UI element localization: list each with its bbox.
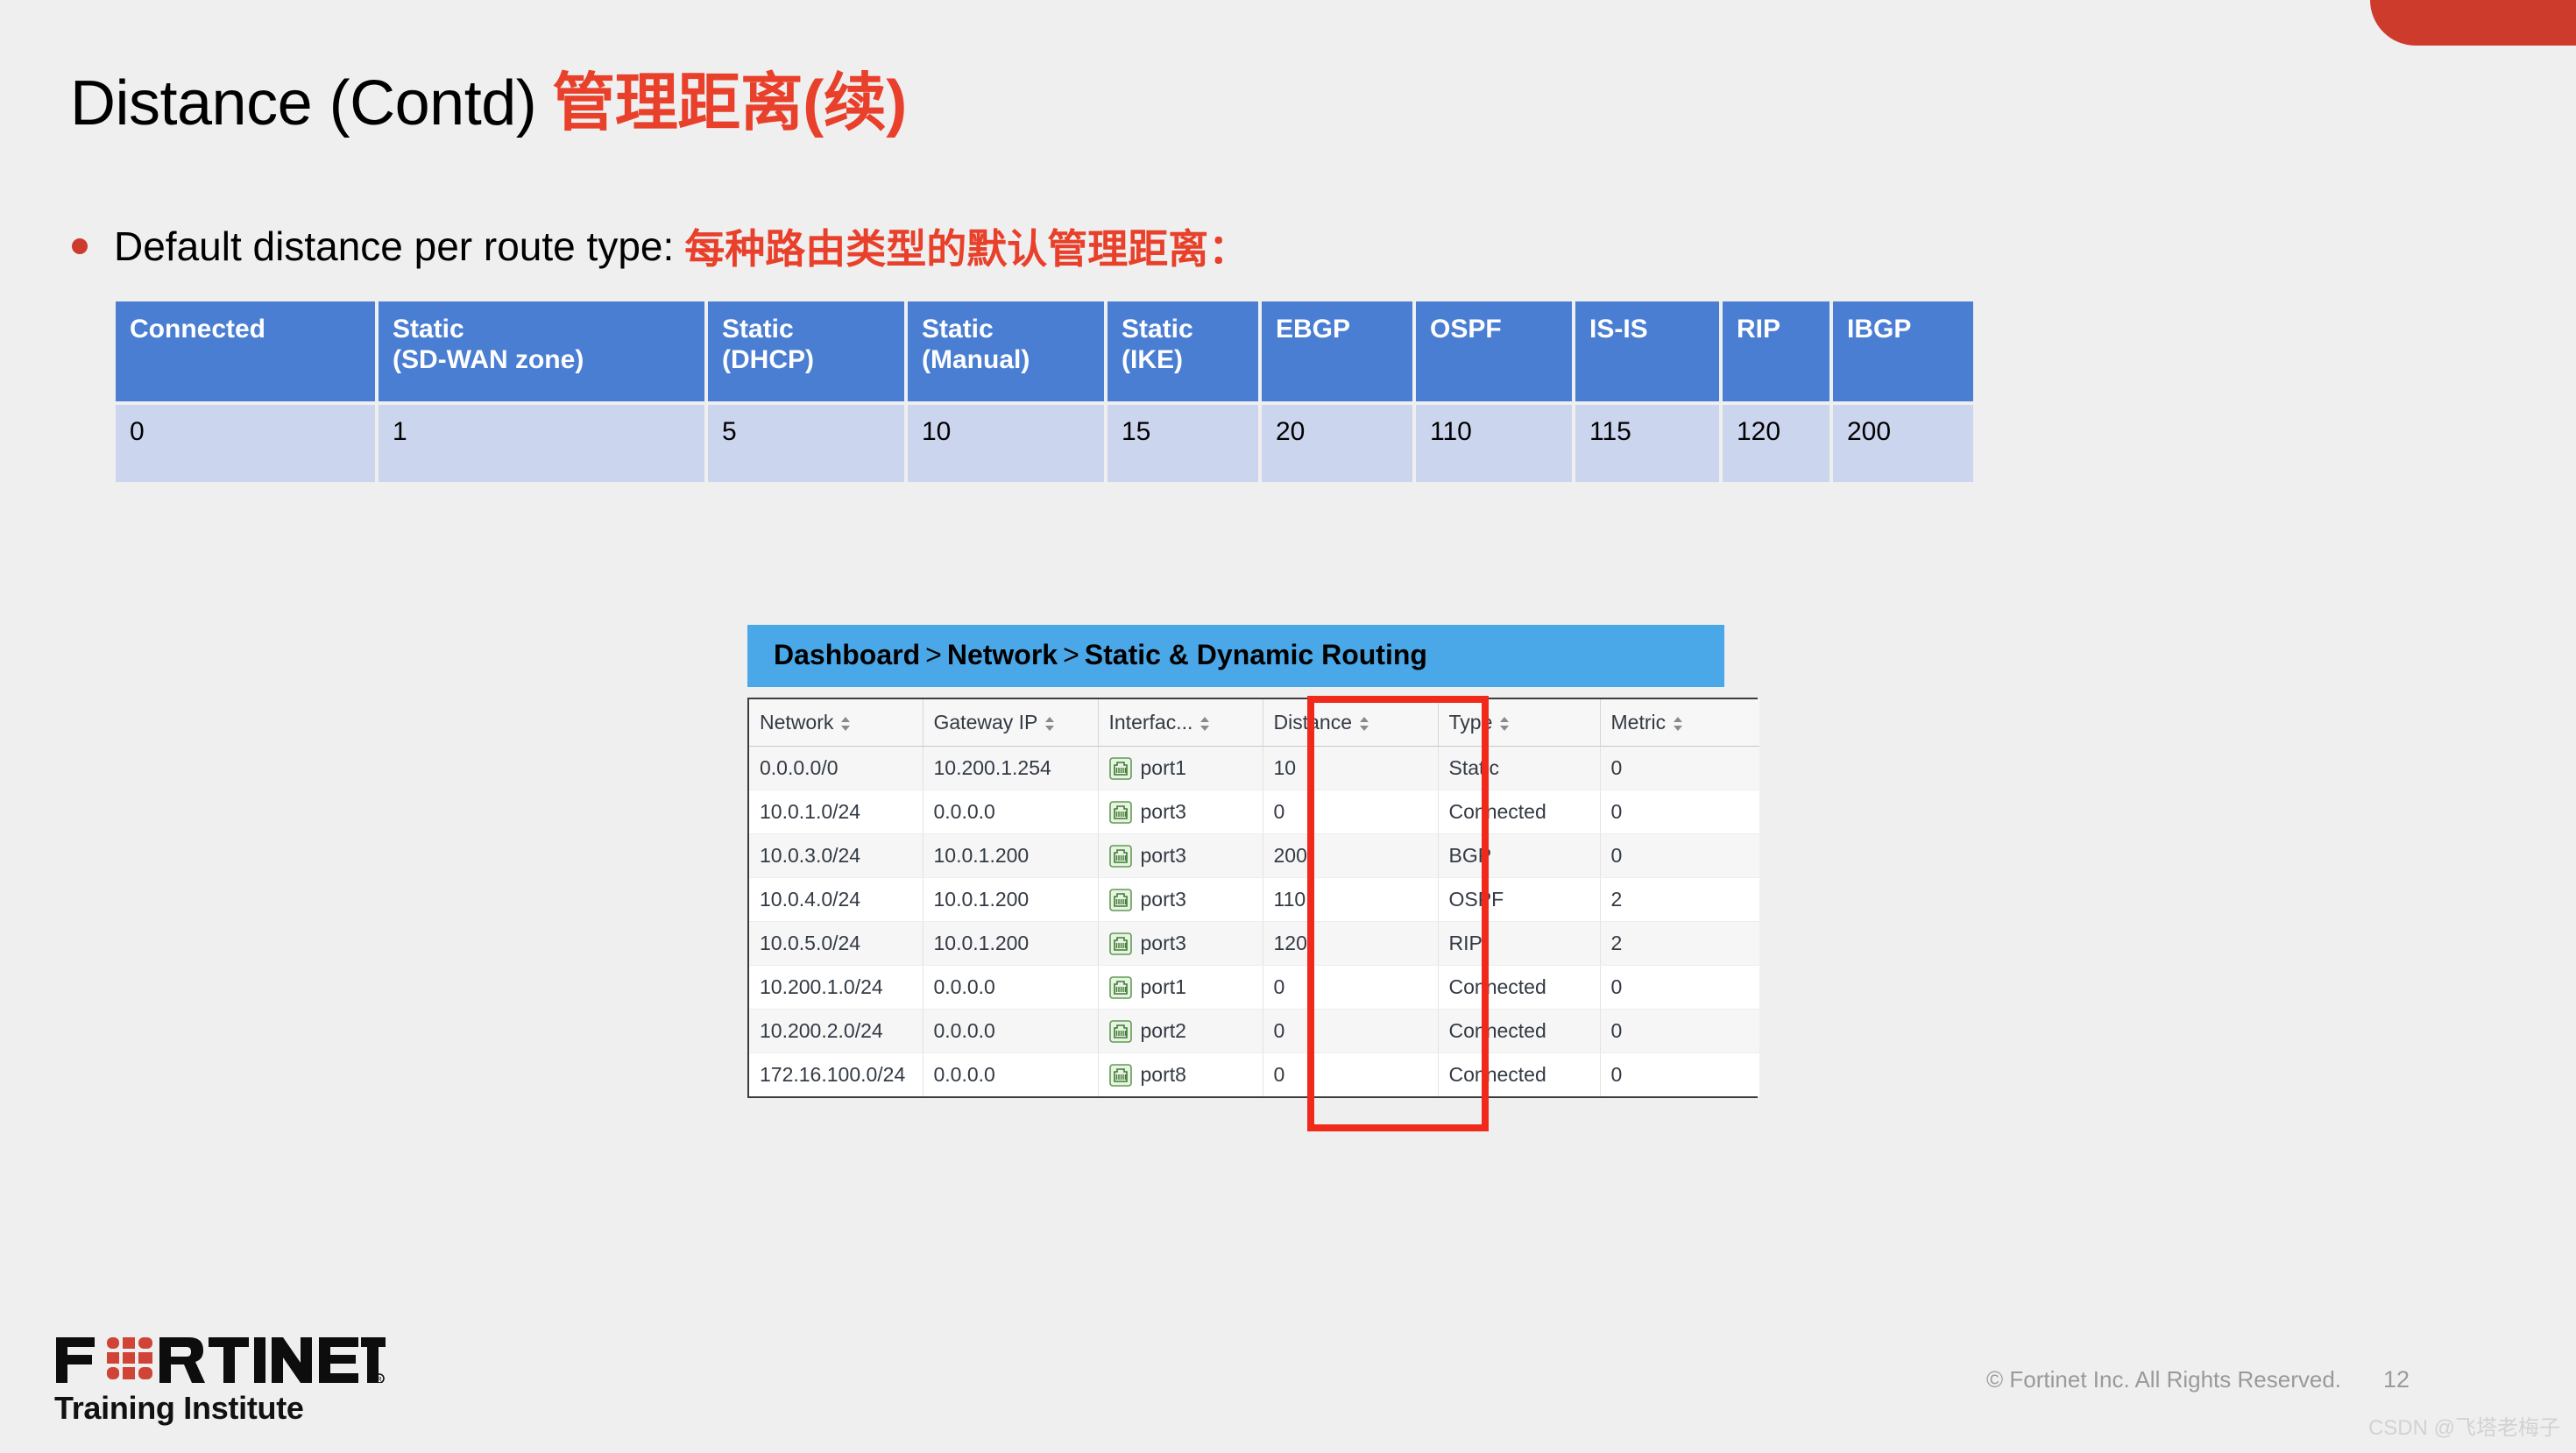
distance-header-ospf: OSPF (1416, 301, 1572, 401)
bullet-text-english: Default distance per route type: (114, 223, 674, 270)
cell-metric: 0 (1600, 1010, 1759, 1053)
distance-value-ebgp: 20 (1262, 405, 1412, 482)
ethernet-port-icon (1109, 889, 1132, 911)
table-row[interactable]: 10.0.5.0/2410.0.1.200port3120RIP2 (749, 922, 1759, 966)
header-line-1: Static (393, 315, 464, 344)
cell-type: Connected (1438, 1053, 1600, 1097)
cell-metric: 0 (1600, 790, 1759, 834)
column-header-interface[interactable]: Interfac... (1098, 699, 1263, 747)
sort-arrows-icon[interactable] (1044, 715, 1056, 733)
cell-interface: port2 (1098, 1010, 1263, 1053)
cell-network: 10.0.5.0/24 (749, 922, 923, 966)
cell-interface: port3 (1098, 790, 1263, 834)
cell-network: 0.0.0.0/0 (749, 747, 923, 790)
distance-value-ibgp: 200 (1833, 405, 1973, 482)
ethernet-port-icon (1109, 1064, 1132, 1087)
sort-arrows-icon[interactable] (839, 715, 852, 733)
distance-header-static-dhcp: Static (DHCP) (708, 301, 904, 401)
cell-interface: port1 (1098, 966, 1263, 1010)
column-header-network-label: Network (760, 711, 833, 734)
ethernet-port-icon (1109, 932, 1132, 955)
header-line-1: Static (722, 315, 794, 344)
copyright-notice: © Fortinet Inc. All Rights Reserved. (1986, 1366, 2341, 1393)
distance-header-ibgp: IBGP (1833, 301, 1973, 401)
ethernet-port-icon (1109, 1020, 1132, 1043)
cell-metric: 0 (1600, 834, 1759, 878)
fortinet-logo-subtitle: Training Institute (54, 1390, 386, 1427)
red-corner-accent (2370, 0, 2576, 46)
interface-name: port1 (1141, 975, 1186, 999)
table-row[interactable]: 10.0.3.0/2410.0.1.200port3200BGP0 (749, 834, 1759, 878)
cell-distance: 200 (1263, 834, 1438, 878)
sort-arrows-icon[interactable] (1358, 715, 1370, 733)
cell-network: 10.0.4.0/24 (749, 878, 923, 922)
cell-metric: 0 (1600, 747, 1759, 790)
cell-network: 10.200.1.0/24 (749, 966, 923, 1010)
cell-distance: 10 (1263, 747, 1438, 790)
routing-table-header-row: Network Gateway IP Interfac... Distance … (749, 699, 1759, 747)
distance-table-value-row: 0 1 5 10 15 20 110 115 120 200 (116, 405, 1973, 482)
distance-header-connected: Connected (116, 301, 375, 401)
table-row[interactable]: 172.16.100.0/240.0.0.0port80Connected0 (749, 1053, 1759, 1097)
breadcrumb-item-dashboard[interactable]: Dashboard (774, 639, 920, 670)
cell-gateway-ip: 0.0.0.0 (923, 1010, 1098, 1053)
column-header-interface-label: Interfac... (1109, 711, 1193, 734)
column-header-distance-label: Distance (1274, 711, 1352, 734)
header-line-1: Static (922, 315, 994, 344)
header-line-1: Connected (130, 315, 265, 344)
cell-metric: 0 (1600, 966, 1759, 1010)
routing-monitor-table: Network Gateway IP Interfac... Distance … (749, 699, 1759, 1096)
distance-header-static-sdwan: Static (SD-WAN zone) (379, 301, 704, 401)
bullet-text-chinese: 每种路由类型的默认管理距离： (684, 217, 1249, 275)
interface-name: port2 (1141, 1019, 1186, 1043)
header-line-1: IS-IS (1589, 315, 1648, 344)
interface-name: port3 (1141, 844, 1186, 868)
cell-metric: 0 (1600, 1053, 1759, 1097)
cell-type: RIP (1438, 922, 1600, 966)
cell-type: OSPF (1438, 878, 1600, 922)
distance-value-static-sdwan: 1 (379, 405, 704, 482)
cell-gateway-ip: 10.0.1.200 (923, 834, 1098, 878)
csdn-watermark: CSDN @飞塔老梅子 (2368, 1410, 2560, 1441)
column-header-gateway-ip-label: Gateway IP (934, 711, 1038, 734)
column-header-gateway-ip[interactable]: Gateway IP (923, 699, 1098, 747)
sort-arrows-icon[interactable] (1199, 715, 1211, 733)
cell-distance: 0 (1263, 966, 1438, 1010)
header-line-1: EBGP (1276, 315, 1350, 344)
fortios-gui-panel: Dashboard>Network>Static & Dynamic Routi… (747, 625, 1724, 1098)
column-header-metric[interactable]: Metric (1600, 699, 1759, 747)
header-line-1: RIP (1737, 315, 1780, 344)
sort-arrows-icon[interactable] (1672, 715, 1684, 733)
page-number: 12 (2383, 1366, 2410, 1393)
cell-interface: port3 (1098, 878, 1263, 922)
distance-header-isis: IS-IS (1575, 301, 1719, 401)
cell-interface: port8 (1098, 1053, 1263, 1097)
cell-type: Connected (1438, 1010, 1600, 1053)
breadcrumb: Dashboard>Network>Static & Dynamic Routi… (747, 625, 1724, 687)
distance-value-static-dhcp: 5 (708, 405, 904, 482)
header-line-1: IBGP (1847, 315, 1911, 344)
distance-header-ebgp: EBGP (1262, 301, 1412, 401)
page-title: Distance (Contd)管理距离(续) (70, 72, 907, 135)
distance-value-isis: 115 (1575, 405, 1719, 482)
interface-name: port1 (1141, 756, 1186, 780)
column-header-metric-label: Metric (1611, 711, 1667, 734)
header-line-1: Static (1122, 315, 1193, 344)
distance-value-connected: 0 (116, 405, 375, 482)
routing-table-container: Network Gateway IP Interfac... Distance … (747, 698, 1758, 1098)
table-row[interactable]: 10.0.1.0/240.0.0.0port30Connected0 (749, 790, 1759, 834)
ethernet-port-icon (1109, 976, 1132, 999)
breadcrumb-separator-icon: > (920, 639, 947, 670)
header-line-1: OSPF (1430, 315, 1502, 344)
column-header-type-label: Type (1449, 711, 1493, 734)
breadcrumb-item-network[interactable]: Network (947, 639, 1058, 670)
cell-gateway-ip: 0.0.0.0 (923, 966, 1098, 1010)
header-line-2: (SD-WAN zone) (393, 345, 584, 374)
table-row[interactable]: 10.0.4.0/2410.0.1.200port3110OSPF2 (749, 878, 1759, 922)
ethernet-port-icon (1109, 757, 1132, 780)
distance-table-header-row: Connected Static (SD-WAN zone) Static (D… (116, 301, 1973, 401)
table-row[interactable]: 10.200.1.0/240.0.0.0port10Connected0 (749, 966, 1759, 1010)
table-row[interactable]: 10.200.2.0/240.0.0.0port20Connected0 (749, 1010, 1759, 1053)
fortinet-wordmark-icon: R (54, 1334, 386, 1383)
cell-network: 10.0.1.0/24 (749, 790, 923, 834)
column-header-network[interactable]: Network (749, 699, 923, 747)
interface-name: port3 (1141, 888, 1186, 911)
column-header-distance[interactable]: Distance (1263, 699, 1438, 747)
ethernet-port-icon (1109, 845, 1132, 868)
header-line-2: (DHCP) (722, 345, 814, 374)
distance-header-rip: RIP (1723, 301, 1829, 401)
bullet-line: Default distance per route type: 每种路由类型的… (72, 217, 1249, 275)
distance-header-static-ike: Static (IKE) (1108, 301, 1258, 401)
cell-network: 172.16.100.0/24 (749, 1053, 923, 1097)
header-line-2: (IKE) (1122, 345, 1183, 374)
distance-value-static-manual: 10 (908, 405, 1104, 482)
cell-gateway-ip: 0.0.0.0 (923, 1053, 1098, 1097)
cell-distance: 0 (1263, 1053, 1438, 1097)
cell-type: Connected (1438, 966, 1600, 1010)
sort-arrows-icon[interactable] (1498, 715, 1511, 733)
breadcrumb-separator-icon: > (1058, 639, 1085, 670)
distance-value-static-ike: 15 (1108, 405, 1258, 482)
cell-metric: 2 (1600, 878, 1759, 922)
table-row[interactable]: 0.0.0.0/010.200.1.254port110Static0 (749, 747, 1759, 790)
default-distance-table: Connected Static (SD-WAN zone) Static (D… (112, 298, 1977, 486)
fortinet-logo: R Training Institute (54, 1334, 386, 1427)
bullet-dot-icon (72, 238, 88, 254)
cell-interface: port3 (1098, 922, 1263, 966)
distance-header-static-manual: Static (Manual) (908, 301, 1104, 401)
cell-gateway-ip: 10.200.1.254 (923, 747, 1098, 790)
distance-value-ospf: 110 (1416, 405, 1572, 482)
cell-interface: port3 (1098, 834, 1263, 878)
interface-name: port3 (1141, 800, 1186, 824)
cell-distance: 0 (1263, 1010, 1438, 1053)
distance-value-rip: 120 (1723, 405, 1829, 482)
cell-network: 10.200.2.0/24 (749, 1010, 923, 1053)
cell-gateway-ip: 0.0.0.0 (923, 790, 1098, 834)
cell-distance: 120 (1263, 922, 1438, 966)
page-title-chinese: 管理距离(续) (552, 68, 906, 138)
page-title-english: Distance (Contd) (70, 68, 536, 138)
cell-interface: port1 (1098, 747, 1263, 790)
breadcrumb-item-static-dynamic-routing[interactable]: Static & Dynamic Routing (1085, 639, 1427, 670)
cell-distance: 0 (1263, 790, 1438, 834)
cell-type: BGP (1438, 834, 1600, 878)
cell-network: 10.0.3.0/24 (749, 834, 923, 878)
header-line-2: (Manual) (922, 345, 1030, 374)
ethernet-port-icon (1109, 801, 1132, 824)
cell-gateway-ip: 10.0.1.200 (923, 878, 1098, 922)
interface-name: port8 (1141, 1063, 1186, 1087)
column-header-type[interactable]: Type (1438, 699, 1600, 747)
cell-metric: 2 (1600, 922, 1759, 966)
svg-text:R: R (377, 1377, 381, 1383)
interface-name: port3 (1141, 932, 1186, 955)
cell-type: Static (1438, 747, 1600, 790)
cell-gateway-ip: 10.0.1.200 (923, 922, 1098, 966)
cell-distance: 110 (1263, 878, 1438, 922)
cell-type: Connected (1438, 790, 1600, 834)
